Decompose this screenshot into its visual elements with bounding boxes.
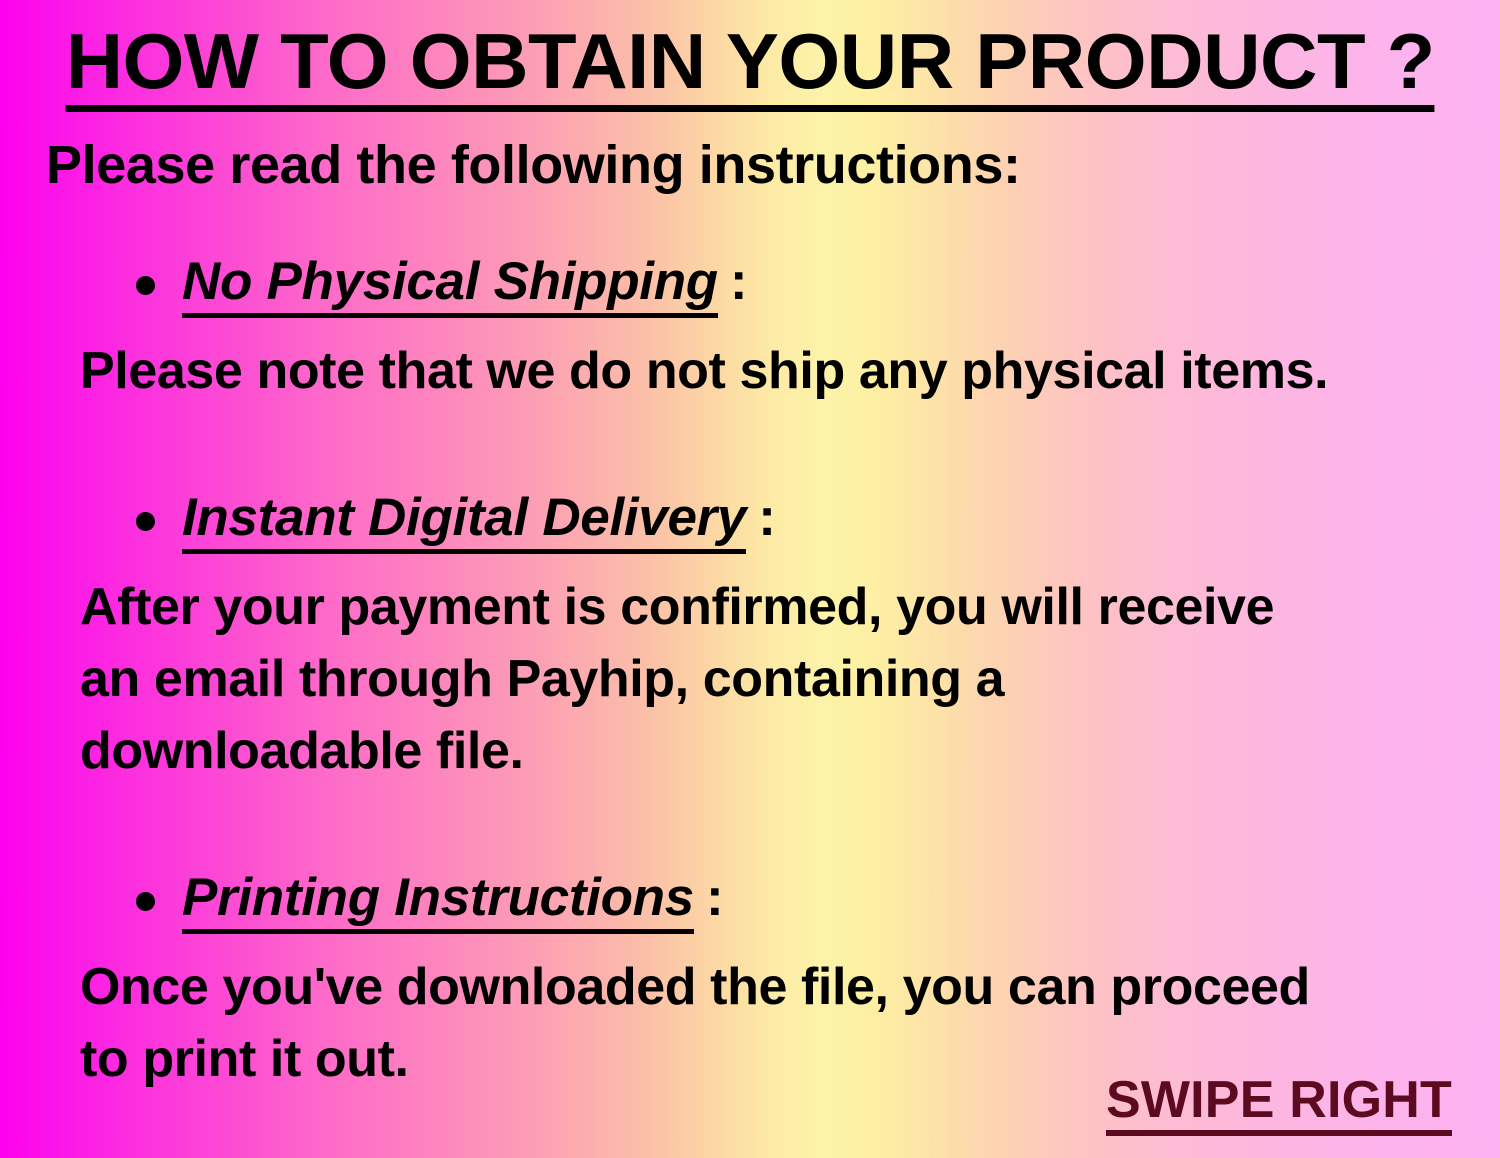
instruction-body: Please note that we do not ship any phys… xyxy=(0,336,1500,408)
bullet-dot-icon xyxy=(136,512,155,531)
instruction-heading-row: No Physical Shipping: xyxy=(0,252,1500,318)
intro-text: Please read the following instructions: xyxy=(46,136,1021,194)
body-line: After your payment is confirmed, you wil… xyxy=(80,572,1500,644)
heading-colon: : xyxy=(758,488,776,547)
promo-slide: HOW TO OBTAIN YOUR PRODUCT ? Please read… xyxy=(0,0,1500,1158)
body-line: an email through Payhip, containing a xyxy=(80,644,1500,716)
instruction-heading-row: Printing Instructions: xyxy=(0,868,1500,934)
body-line: Please note that we do not ship any phys… xyxy=(80,336,1500,408)
body-line: Once you've downloaded the file, you can… xyxy=(80,952,1500,1024)
bullet-dot-icon xyxy=(136,892,155,911)
instruction-section: No Physical Shipping: Please note that w… xyxy=(0,252,1500,408)
swipe-right-cta[interactable]: SWIPE RIGHT xyxy=(1106,1074,1452,1136)
body-line: downloadable file. xyxy=(80,716,1500,788)
instruction-heading: Instant Digital Delivery xyxy=(182,488,746,554)
instruction-heading: Printing Instructions xyxy=(182,868,694,934)
instruction-body: After your payment is confirmed, you wil… xyxy=(0,572,1500,787)
page-title-row: HOW TO OBTAIN YOUR PRODUCT ? xyxy=(0,22,1500,112)
bullet-dot-icon xyxy=(136,276,155,295)
heading-colon: : xyxy=(706,868,724,927)
instruction-heading: No Physical Shipping xyxy=(182,252,718,318)
page-title: HOW TO OBTAIN YOUR PRODUCT ? xyxy=(65,22,1434,112)
instruction-section: Printing Instructions: Once you've downl… xyxy=(0,868,1500,1096)
instruction-heading-row: Instant Digital Delivery: xyxy=(0,488,1500,554)
instruction-section: Instant Digital Delivery: After your pay… xyxy=(0,488,1500,788)
heading-colon: : xyxy=(730,252,748,311)
